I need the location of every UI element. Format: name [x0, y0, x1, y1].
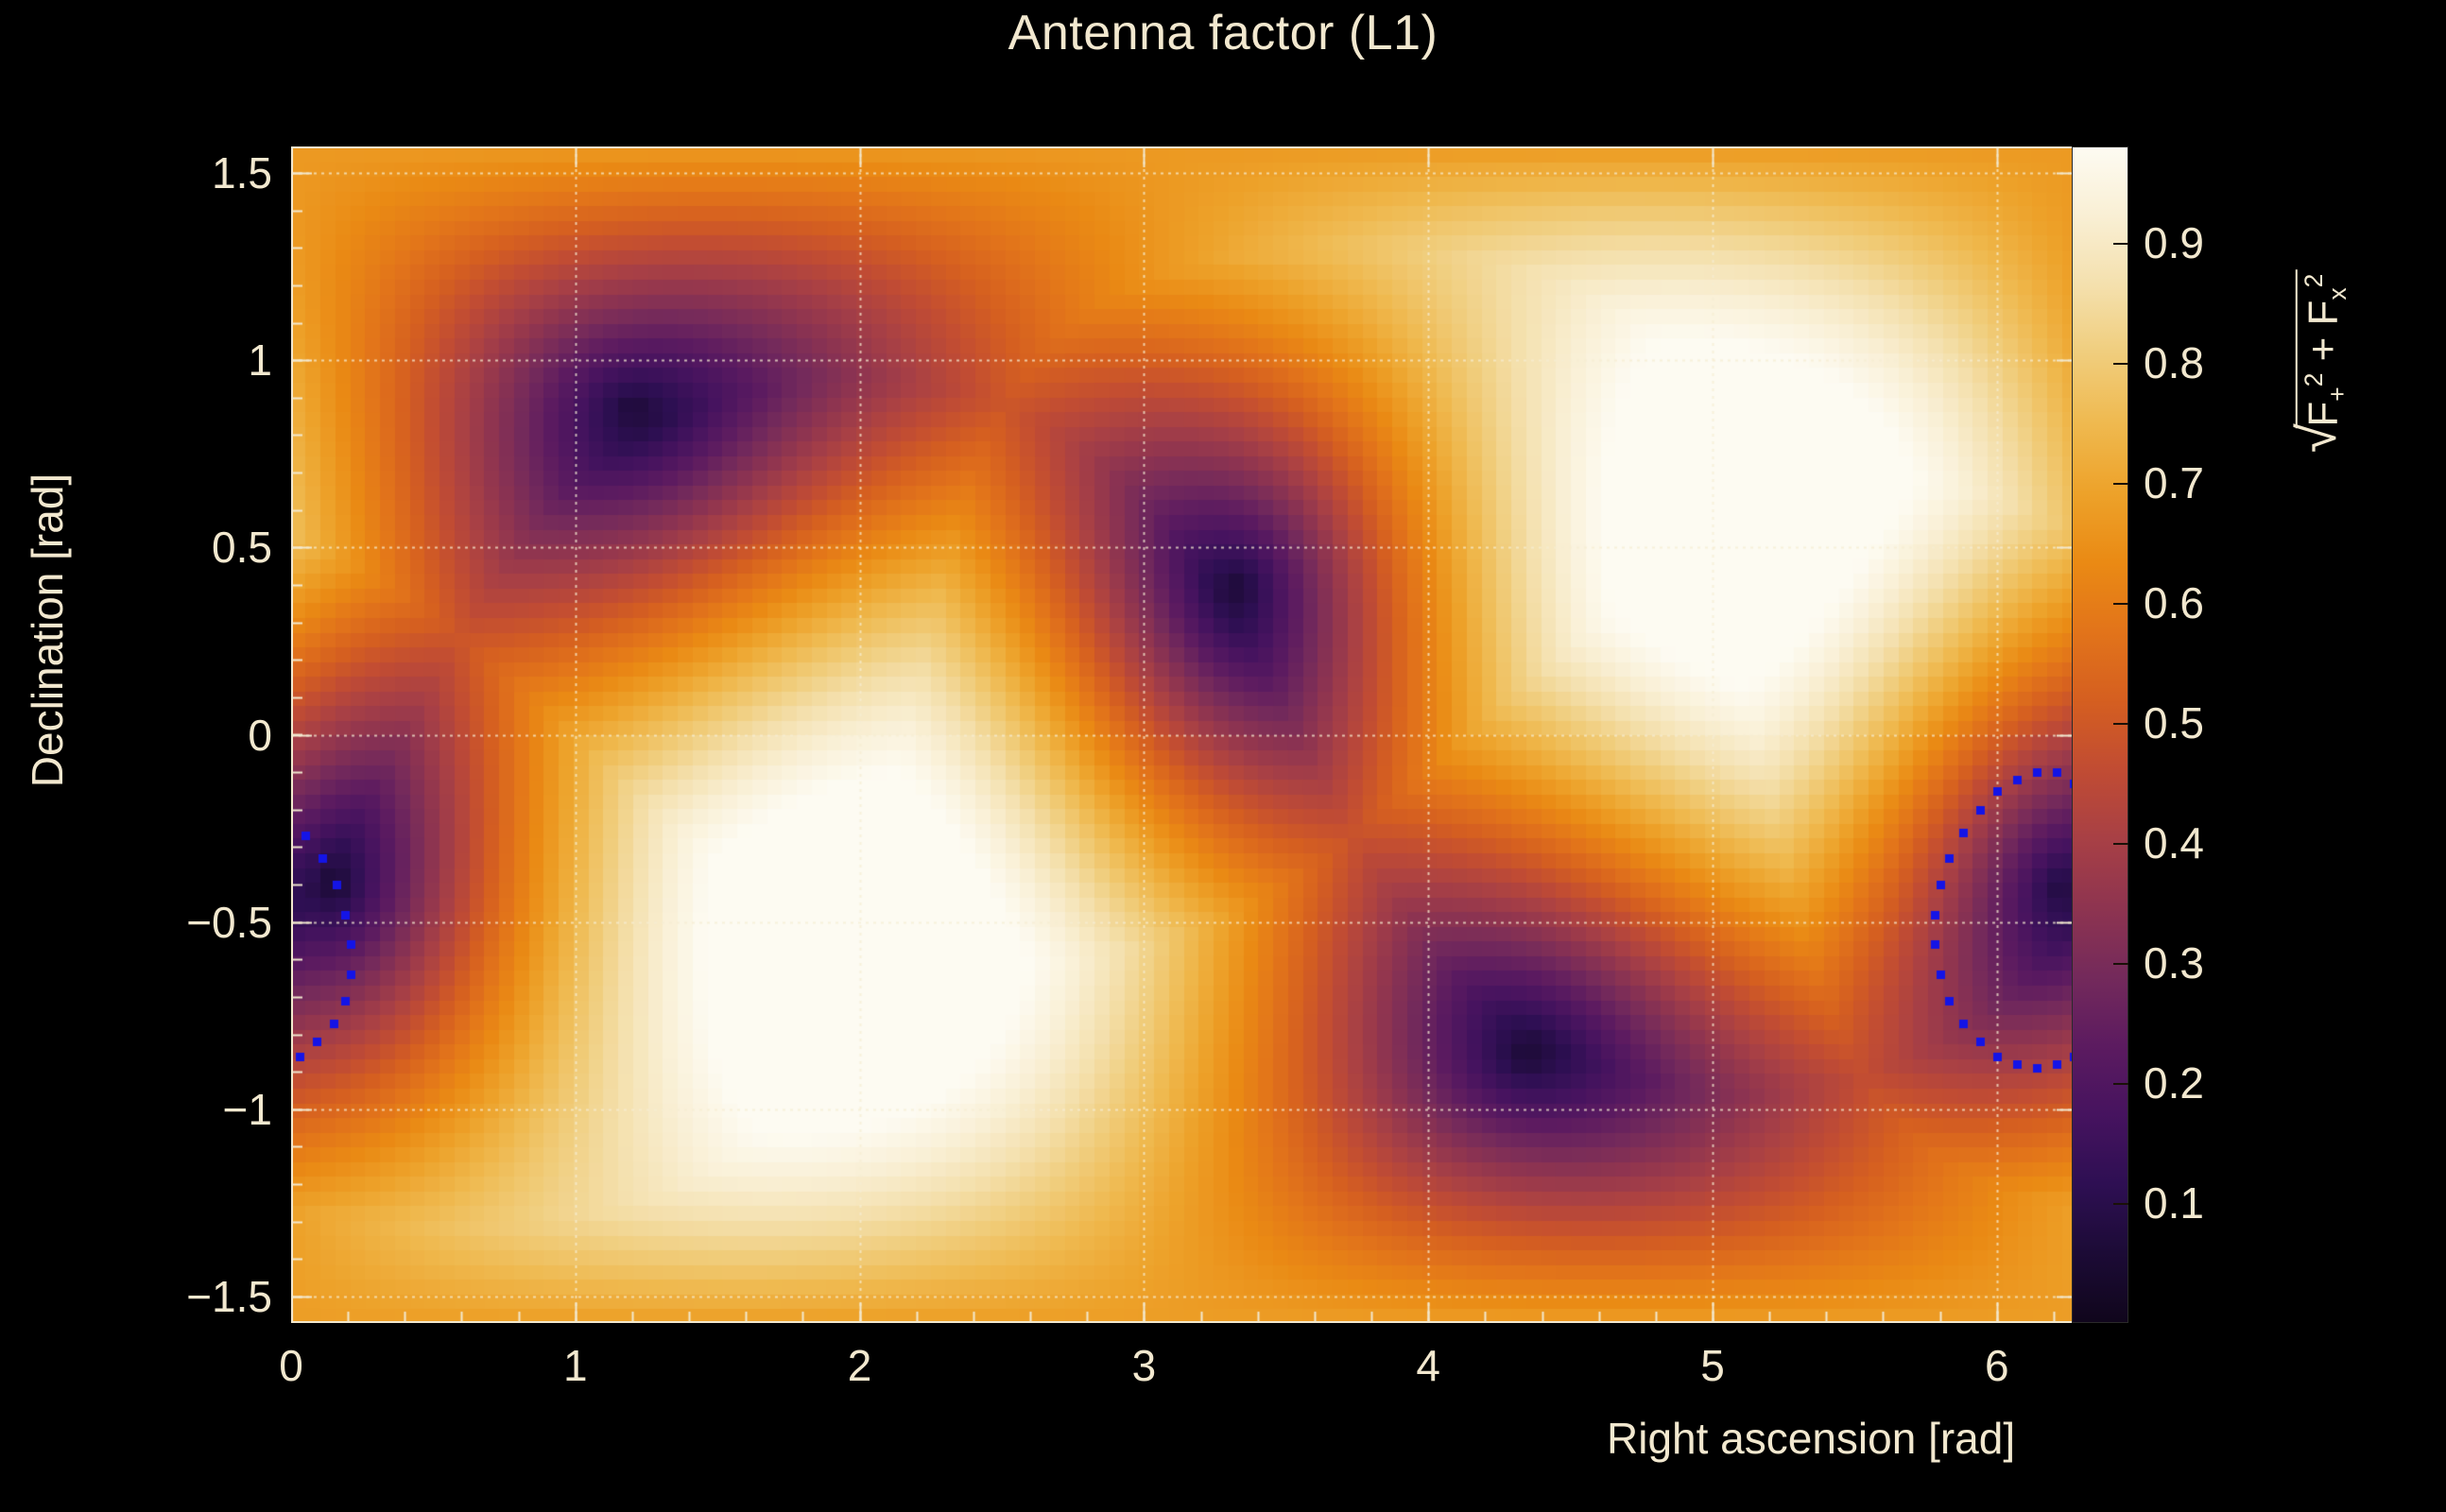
x-tick-label: 1 [563, 1340, 588, 1391]
colorbar-tick-label: 0.6 [2144, 577, 2204, 628]
grid-and-contour-overlay [291, 146, 2077, 1323]
colorbar-tick-label: 0.1 [2144, 1177, 2204, 1228]
colorbar-tick-label: 0.5 [2144, 697, 2204, 748]
y-tick-label: −0.5 [64, 897, 272, 948]
f-plus-subscript: + [2323, 387, 2351, 401]
f-plus-symbol: F [2300, 402, 2346, 427]
y-tick-label: 1 [64, 335, 272, 386]
y-tick-label: 0.5 [64, 522, 272, 573]
x-tick-label: 3 [1132, 1340, 1157, 1391]
plot-title: Antenna factor (L1) [0, 6, 2446, 62]
y-tick-label: 1.5 [64, 147, 272, 198]
heatmap-plot-area [291, 146, 2077, 1323]
colorbar-tick-label: 0.4 [2144, 817, 2204, 868]
x-tick-label: 0 [279, 1340, 303, 1391]
colorbar [2072, 146, 2128, 1323]
y-axis-title: Declination [rad] [22, 385, 73, 876]
y-tick-label: −1 [64, 1084, 272, 1135]
x-tick-label: 5 [1700, 1340, 1725, 1391]
f-cross-superscript: 2 [2300, 274, 2328, 288]
y-tick-label: 0 [64, 710, 272, 761]
colorbar-tick-label: 0.2 [2144, 1057, 2204, 1108]
f-cross-subscript: x [2323, 287, 2351, 300]
colorbar-tick-label: 0.9 [2144, 217, 2204, 268]
y-tick-label: −1.5 [64, 1271, 272, 1322]
colorbar-tick-label: 0.7 [2144, 457, 2204, 508]
colorbar-title-text: F+2 + Fx2 [2294, 157, 2352, 554]
x-tick-label: 2 [848, 1340, 872, 1391]
plot-canvas: Antenna factor (L1) 1.510.50−0.5−1−1.5 0… [0, 0, 2446, 1512]
colorbar-title: F+2 + Fx2 [2266, 146, 2380, 1323]
plus-operator: + [2300, 337, 2346, 362]
colorbar-tick-label: 0.3 [2144, 937, 2204, 988]
f-cross-symbol: F [2300, 301, 2346, 326]
x-tick-label: 6 [1985, 1340, 2009, 1391]
f-plus-superscript: 2 [2300, 373, 2328, 387]
colorbar-tick-label: 0.8 [2144, 337, 2204, 388]
x-tick-label: 4 [1416, 1340, 1440, 1391]
x-axis-title: Right ascension [rad] [1607, 1413, 2015, 1464]
